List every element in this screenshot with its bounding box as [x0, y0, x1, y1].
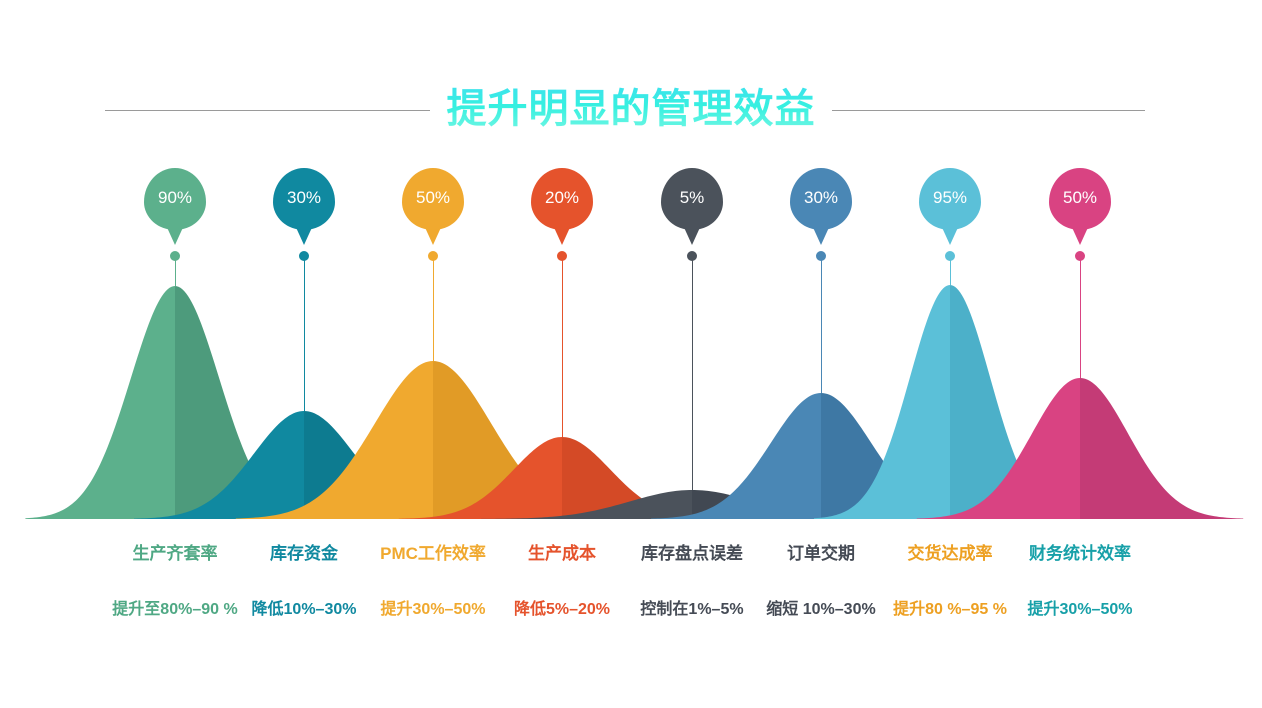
curve-left-half — [25, 286, 175, 519]
pin-marker-icon[interactable]: 50% — [1049, 168, 1111, 244]
stem-line — [433, 258, 434, 361]
balloon-value-label: 50% — [1049, 168, 1111, 230]
curve-right-half — [1080, 378, 1243, 519]
pin-marker-icon[interactable]: 30% — [790, 168, 852, 244]
pin-marker-icon[interactable]: 90% — [144, 168, 206, 244]
balloon-value-label: 30% — [273, 168, 335, 230]
stem-line — [821, 258, 822, 393]
balloon-value-label: 50% — [402, 168, 464, 230]
pin-marker-icon[interactable]: 50% — [402, 168, 464, 244]
balloon-value-label: 5% — [661, 168, 723, 230]
balloon-value-label: 20% — [531, 168, 593, 230]
pin-marker-icon[interactable]: 20% — [531, 168, 593, 244]
balloon-value-label: 90% — [144, 168, 206, 230]
captions-row: 生产齐套率提升至80%–90 %库存资金降低10%–30%PMC工作效率提升30… — [0, 540, 1262, 650]
balloon-value-label: 30% — [790, 168, 852, 230]
stem-line — [304, 258, 305, 411]
pin-marker-icon[interactable]: 5% — [661, 168, 723, 244]
stem-line — [950, 258, 951, 285]
stem-line — [1080, 258, 1081, 378]
metric-name: 财务统计效率 — [1000, 540, 1160, 568]
caption-column-8: 财务统计效率提升30%–50% — [1000, 540, 1160, 623]
pin-marker-icon[interactable]: 95% — [919, 168, 981, 244]
stem-line — [562, 258, 563, 437]
stem-line — [692, 258, 693, 490]
stem-line — [175, 258, 176, 286]
pin-marker-icon[interactable]: 30% — [273, 168, 335, 244]
metric-detail: 提升30%–50% — [1000, 597, 1160, 623]
balloon-value-label: 95% — [919, 168, 981, 230]
